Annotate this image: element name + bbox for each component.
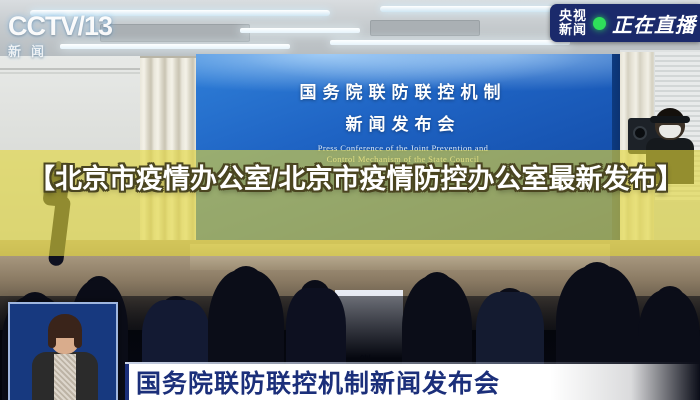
live-status-label: 正在直播 xyxy=(612,9,696,38)
brand-line-2: 新闻 xyxy=(559,23,587,37)
broadcast-screenshot: 国务院联防联控机制 新闻发布会 Press Conference of the … xyxy=(0,0,700,400)
cctv-logo-sub: 新闻 xyxy=(8,41,120,60)
camera-operator-headphones xyxy=(650,116,690,123)
cctv-news-brand: 央视 新闻 xyxy=(559,9,587,37)
live-status-badge[interactable]: 央视 新闻 正在直播 xyxy=(550,4,700,42)
interpreter-hair-right xyxy=(74,328,82,348)
headline-text: 【北京市疫情办公室/北京市疫情防控办公室最新发布】 xyxy=(0,160,700,198)
backdrop-line-2: 新闻发布会 xyxy=(196,110,610,135)
live-indicator-dot-icon xyxy=(593,17,606,30)
sign-language-interpreter-inset xyxy=(8,302,118,400)
lower-third-title: 国务院联防联控机制新闻发布会 xyxy=(136,366,500,398)
brand-line-1: 央视 xyxy=(559,9,587,23)
cctv-13-logo: CCTV/13 新闻 xyxy=(8,12,120,66)
interpreter-shirt xyxy=(54,354,76,400)
camera-lens xyxy=(633,126,647,140)
interpreter-hair-left xyxy=(48,328,56,348)
cctv-logo-main: CCTV/13 xyxy=(8,12,120,40)
lower-third-accent-bar xyxy=(125,364,129,400)
backdrop-line-1: 国务院联防联控机制 xyxy=(196,78,610,103)
